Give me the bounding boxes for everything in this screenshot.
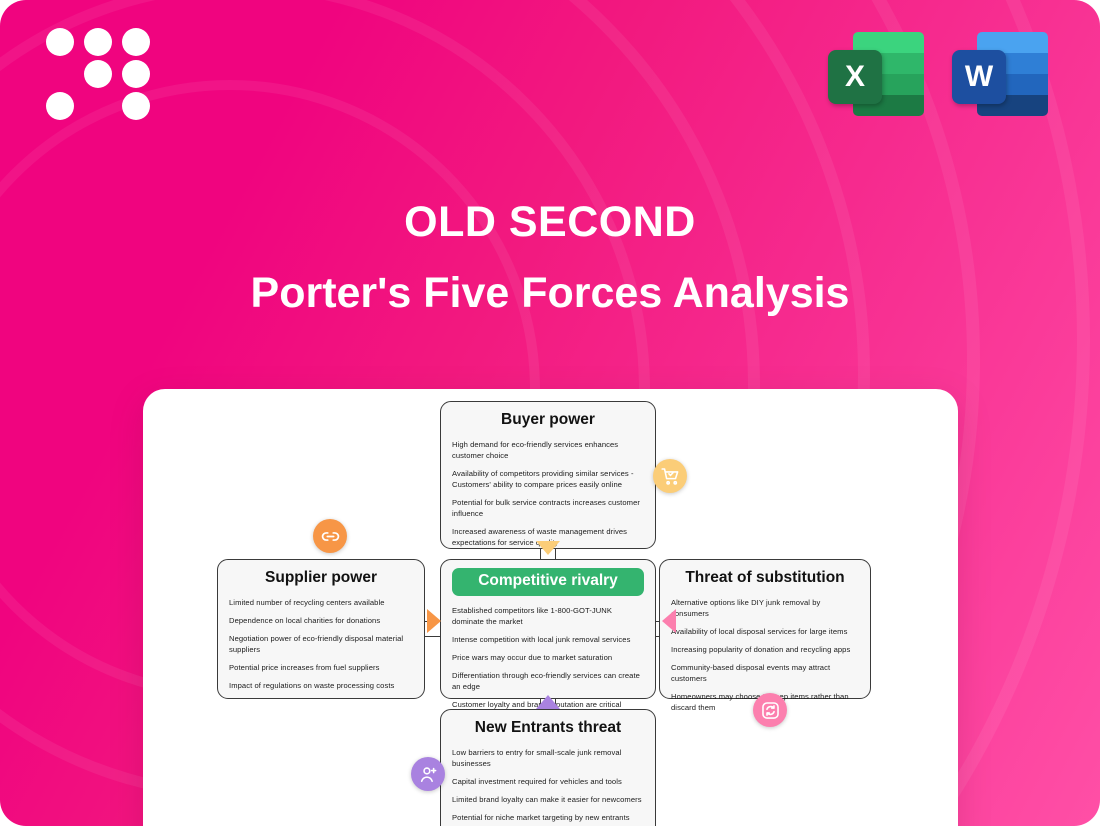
arrow-buyer-to-rivalry-icon	[536, 541, 560, 555]
force-box-supplier-power[interactable]: Supplier power Limited number of recycli…	[217, 559, 425, 699]
force-box-threat-of-substitution[interactable]: Threat of substitution Alternative optio…	[659, 559, 871, 699]
page-title: OLD SECOND	[0, 198, 1100, 247]
force-title-threat-of-substitution: Threat of substitution	[671, 569, 859, 588]
diagram-card: Buyer power High demand for eco-friendly…	[143, 389, 958, 826]
force-title-supplier-power: Supplier power	[229, 569, 413, 588]
poster-headings: OLD SECOND Porter's Five Forces Analysis	[0, 198, 1100, 318]
logo-dot	[122, 28, 150, 56]
force-item: Low barriers to entry for small-scale ju…	[452, 747, 644, 769]
force-box-competitive-rivalry[interactable]: Competitive rivalry Established competit…	[440, 559, 656, 699]
force-list-new-entrants-threat: Low barriers to entry for small-scale ju…	[452, 747, 644, 826]
poster-canvas: X W OLD SECOND Porter's Five Forces Anal…	[0, 0, 1100, 826]
word-badge-letter: W	[952, 50, 1006, 104]
file-icons-group: X W	[828, 28, 1048, 120]
excel-badge-letter: X	[828, 50, 882, 104]
logo-dot	[84, 60, 112, 88]
page-subtitle: Porter's Five Forces Analysis	[0, 269, 1100, 318]
word-icon: W	[952, 28, 1048, 120]
force-box-buyer-power[interactable]: Buyer power High demand for eco-friendly…	[440, 401, 656, 549]
force-item: Negotiation power of eco-friendly dispos…	[229, 633, 413, 655]
force-item: Limited brand loyalty can make it easier…	[452, 794, 644, 805]
force-item: Intense competition with local junk remo…	[452, 634, 644, 645]
logo-dot	[46, 92, 74, 120]
seven-dot-grid-logo	[46, 28, 150, 120]
force-item: High demand for eco-friendly services en…	[452, 439, 644, 461]
force-item: Dependence on local charities for donati…	[229, 615, 413, 626]
force-list-supplier-power: Limited number of recycling centers avai…	[229, 597, 413, 691]
logo-dot	[84, 28, 112, 56]
porters-five-forces-diagram: Buyer power High demand for eco-friendly…	[143, 389, 958, 826]
logo-dot	[122, 92, 150, 120]
force-title-buyer-power: Buyer power	[452, 411, 644, 430]
force-box-new-entrants-threat[interactable]: New Entrants threat Low barriers to entr…	[440, 709, 656, 826]
force-item: Increasing popularity of donation and re…	[671, 644, 859, 655]
force-item: Impact of regulations on waste processin…	[229, 680, 413, 691]
force-list-buyer-power: High demand for eco-friendly services en…	[452, 439, 644, 548]
excel-icon: X	[828, 28, 924, 120]
force-item: Availability of local disposal services …	[671, 626, 859, 637]
force-title-competitive-rivalry: Competitive rivalry	[452, 568, 644, 596]
force-item: Community-based disposal events may attr…	[671, 662, 859, 684]
arrow-substitution-to-rivalry-icon	[662, 609, 676, 633]
force-item: Potential for bulk service contracts inc…	[452, 497, 644, 519]
force-item: Differentiation through eco-friendly ser…	[452, 670, 644, 692]
link-chain-icon[interactable]	[313, 519, 347, 553]
force-item: Alternative options like DIY junk remova…	[671, 597, 859, 619]
refresh-swap-icon[interactable]	[753, 693, 787, 727]
force-item: Potential price increases from fuel supp…	[229, 662, 413, 673]
shopping-cart-icon[interactable]	[653, 459, 687, 493]
force-item: Potential for niche market targeting by …	[452, 812, 644, 823]
logo-dot	[46, 28, 74, 56]
force-item: Limited number of recycling centers avai…	[229, 597, 413, 608]
force-item: Price wars may occur due to market satur…	[452, 652, 644, 663]
arrow-newentrants-to-rivalry-icon	[536, 695, 560, 709]
force-item: Established competitors like 1-800-GOT-J…	[452, 605, 644, 627]
force-item: Availability of competitors providing si…	[452, 468, 644, 490]
add-user-icon[interactable]	[411, 757, 445, 791]
force-item: Capital investment required for vehicles…	[452, 776, 644, 787]
arrow-supplier-to-rivalry-icon	[427, 609, 441, 633]
force-title-new-entrants-threat: New Entrants threat	[452, 719, 644, 738]
logo-dot	[122, 60, 150, 88]
